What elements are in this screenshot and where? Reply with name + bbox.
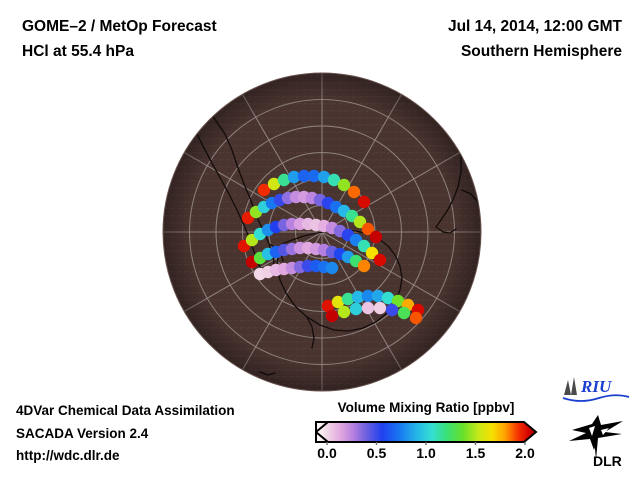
colorbar-swatch (310, 419, 542, 445)
header-right: Jul 14, 2014, 12:00 GMT Southern Hemisph… (448, 14, 622, 64)
colorbar-tick-label: 2.0 (515, 445, 534, 461)
visualization-page: GOME–2 / MetOp Forecast HCl at 55.4 hPa … (0, 0, 640, 480)
header-left: GOME–2 / MetOp Forecast HCl at 55.4 hPa (22, 14, 217, 64)
globe-map (162, 72, 482, 392)
dlr-logo: DLR (565, 412, 631, 468)
riu-mark-icon (564, 377, 577, 395)
colorbar-tick-labels: 0.00.51.01.52.0 (310, 445, 542, 467)
colorbar-tick-label: 0.0 (317, 445, 336, 461)
dlr-wordmark: DLR (593, 453, 622, 468)
riu-wordmark: RIU (580, 377, 612, 396)
version-label: SACADA Version 2.4 (16, 423, 235, 446)
timestamp-label: Jul 14, 2014, 12:00 GMT (448, 14, 622, 39)
colorbar-tick-label: 0.5 (367, 445, 386, 461)
riu-swoosh-icon (563, 395, 629, 401)
riu-logo: RIU (561, 374, 631, 404)
colorbar-title: Volume Mixing Ratio [ppbv] (310, 400, 542, 415)
instrument-title: GOME–2 / MetOp Forecast (22, 14, 217, 39)
method-label: 4DVar Chemical Data Assimilation (16, 400, 235, 423)
hemisphere-label: Southern Hemisphere (448, 39, 622, 64)
globe-svg (162, 72, 482, 392)
website-url[interactable]: http://wdc.dlr.de (16, 445, 235, 468)
colorbar: Volume Mixing Ratio [ppbv] 0.00.51.01.52… (310, 400, 542, 472)
species-level-title: HCl at 55.4 hPa (22, 39, 217, 64)
colorbar-body (316, 422, 536, 442)
colorbar-tick-label: 1.0 (416, 445, 435, 461)
footer-text: 4DVar Chemical Data Assimilation SACADA … (16, 400, 235, 468)
colorbar-tick-label: 1.5 (466, 445, 485, 461)
